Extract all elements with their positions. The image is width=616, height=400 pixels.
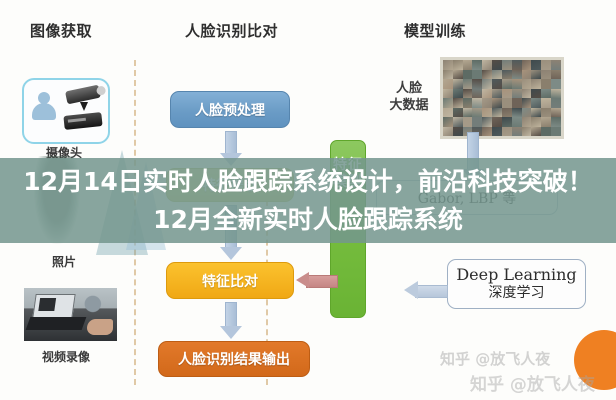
mosaic-tile [482,60,492,70]
arrow-deeplearning-to-model [404,281,448,300]
mosaic-tile [492,117,502,127]
mosaic-tile [472,108,482,118]
mosaic-tile [453,117,463,127]
column-header-model-training: 模型训练 [404,20,466,41]
column-header-face-recognition: 人脸识别比对 [185,20,278,41]
mosaic-tile [463,60,473,70]
title-overlay-band: 12月14日实时人脸跟踪系统设计，前沿科技突破！12月全新实时人脸跟踪系统 [0,158,616,243]
watermark-primary: 知乎 @放飞人夜 [440,348,550,369]
mosaic-tile [551,89,561,99]
mosaic-tile [472,79,482,89]
mosaic-tile [492,108,502,118]
mosaic-tile [541,79,551,89]
mosaic-tile [453,79,463,89]
mosaic-tile [551,127,561,137]
mosaic-tile [512,127,522,137]
mosaic-tile [502,127,512,137]
deep-learning-label-en: Deep Learning [456,265,576,284]
mosaic-tile [551,98,561,108]
mosaic-tile [522,108,532,118]
mosaic-tile [531,127,541,137]
mosaic-tile [551,60,561,70]
mosaic-tile [512,60,522,70]
flow-box-result-output: 人脸识别结果输出 [158,341,310,377]
mosaic-tile [541,70,551,80]
mosaic-tile [492,60,502,70]
camera-input-group [22,78,110,144]
face-bigdata-label: 人脸 大数据 [382,80,436,114]
mosaic-tile [551,79,561,89]
mosaic-tile [502,70,512,80]
mosaic-tile [502,108,512,118]
mosaic-tile [482,98,492,108]
mosaic-tile [531,108,541,118]
column-header-image-acquisition: 图像获取 [30,20,92,41]
mosaic-tile [472,70,482,80]
video-recording-label: 视频录像 [20,348,112,365]
mosaic-tile [443,98,453,108]
mosaic-tile [463,79,473,89]
mosaic-tile [443,117,453,127]
mosaic-tile [482,89,492,99]
mosaic-tile [472,89,482,99]
mosaic-tile [472,98,482,108]
face-dataset-mosaic [440,57,564,139]
mosaic-tile [472,60,482,70]
deep-learning-label-cn: 深度学习 [489,284,545,303]
mosaic-tile [512,117,522,127]
mosaic-tile [463,70,473,80]
down-arrow-icon [80,102,88,111]
mosaic-tile [551,108,561,118]
mosaic-tile [482,70,492,80]
mosaic-tile [502,98,512,108]
diagram-canvas: 图像获取 人脸识别比对 模型训练 摄像头 照片 视频录像 人脸 大数据 特征模型… [0,0,616,400]
mosaic-tile [512,89,522,99]
watermark-secondary: 知乎 @放飞人夜 [470,370,595,395]
arrow-compare-to-output [218,302,244,339]
mosaic-tile [492,127,502,137]
mosaic-tile [522,79,532,89]
mosaic-tile [443,89,453,99]
face-bigdata-label-line1: 人脸 [396,81,422,96]
mosaic-tile [522,89,532,99]
dvr-icon [63,112,102,130]
mosaic-tile [453,60,463,70]
mosaic-tile [443,60,453,70]
mosaic-tile [541,60,551,70]
mosaic-tile [453,70,463,80]
mosaic-tile [551,117,561,127]
mosaic-tile [492,98,502,108]
mosaic-tile [482,117,492,127]
mosaic-tile [522,70,532,80]
person-icon [32,92,56,126]
mosaic-tile [482,108,492,118]
mosaic-tile [541,127,551,137]
mosaic-tile [512,98,522,108]
flow-box-face-preprocess: 人脸预处理 [170,91,290,128]
mosaic-tile [541,89,551,99]
mosaic-tile [531,89,541,99]
mosaic-tile [492,70,502,80]
mosaic-tile [472,117,482,127]
mosaic-tile [482,79,492,89]
mosaic-tile [531,79,541,89]
mosaic-tile [512,70,522,80]
orange-circle-decoration [574,330,616,390]
face-bigdata-label-line2: 大数据 [389,98,428,113]
mosaic-tile [463,108,473,118]
mosaic-tile [502,117,512,127]
mosaic-tile [453,98,463,108]
mosaic-tile [453,108,463,118]
mosaic-tile [492,89,502,99]
mosaic-tile [443,108,453,118]
mosaic-tile [531,98,541,108]
mosaic-tile [463,89,473,99]
mosaic-tile [463,98,473,108]
mosaic-tile [522,127,532,137]
deep-learning-box: Deep Learning 深度学习 [447,259,586,309]
laptop-photograph [24,288,117,341]
mosaic-tile [443,79,453,89]
arrow-model-to-compare [296,272,338,289]
mosaic-tile [443,70,453,80]
mosaic-tile [492,79,502,89]
mosaic-tile [522,117,532,127]
flow-box-feature-compare: 特征比对 [166,262,294,299]
mosaic-tile [502,89,512,99]
mosaic-tile [502,60,512,70]
mosaic-tile [502,79,512,89]
mosaic-tile [541,117,551,127]
mosaic-tile [551,70,561,80]
mosaic-tile [541,98,551,108]
mosaic-tile [531,60,541,70]
mosaic-tile [512,79,522,89]
overlay-title-text: 12月14日实时人脸跟踪系统设计，前沿科技突破！12月全新实时人脸跟踪系统 [10,163,606,239]
mosaic-tile [522,60,532,70]
mosaic-tile [512,108,522,118]
mosaic-tile [531,70,541,80]
mosaic-tile [463,117,473,127]
mosaic-tile [443,127,453,137]
photo-label: 照片 [22,253,106,270]
mosaic-tile [453,89,463,99]
mosaic-tile [541,108,551,118]
mosaic-tile [522,98,532,108]
mosaic-tile [531,117,541,127]
